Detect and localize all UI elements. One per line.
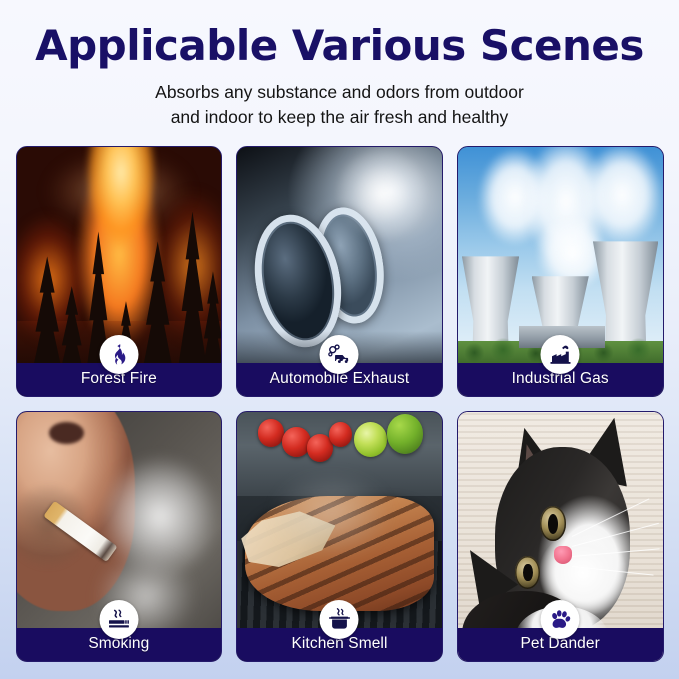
flame-icon bbox=[99, 335, 138, 374]
header: Applicable Various Scenes Absorbs any su… bbox=[0, 0, 679, 130]
scene-card-kitchen-smell[interactable]: Kitchen Smell bbox=[236, 411, 443, 662]
cooking-pot-icon bbox=[320, 600, 359, 639]
paw-print-icon bbox=[541, 600, 580, 639]
subtitle-line-1: Absorbs any substance and odors from out… bbox=[0, 80, 679, 105]
page-title: Applicable Various Scenes bbox=[0, 24, 679, 68]
page-subtitle: Absorbs any substance and odors from out… bbox=[0, 80, 679, 130]
scene-card-automobile-exhaust[interactable]: Automobile Exhaust bbox=[236, 146, 443, 397]
infographic-page: Applicable Various Scenes Absorbs any su… bbox=[0, 0, 679, 679]
cigarette-icon bbox=[99, 600, 138, 639]
factory-icon bbox=[541, 335, 580, 374]
car-exhaust-icon bbox=[320, 335, 359, 374]
scenes-grid: Forest Fire bbox=[16, 146, 664, 662]
subtitle-line-2: and indoor to keep the air fresh and hea… bbox=[0, 105, 679, 130]
scene-card-forest-fire[interactable]: Forest Fire bbox=[16, 146, 223, 397]
scene-card-industrial-gas[interactable]: Industrial Gas bbox=[457, 146, 664, 397]
scene-card-smoking[interactable]: Smoking bbox=[16, 411, 223, 662]
scene-card-pet-dander[interactable]: Pet Dander bbox=[457, 411, 664, 662]
